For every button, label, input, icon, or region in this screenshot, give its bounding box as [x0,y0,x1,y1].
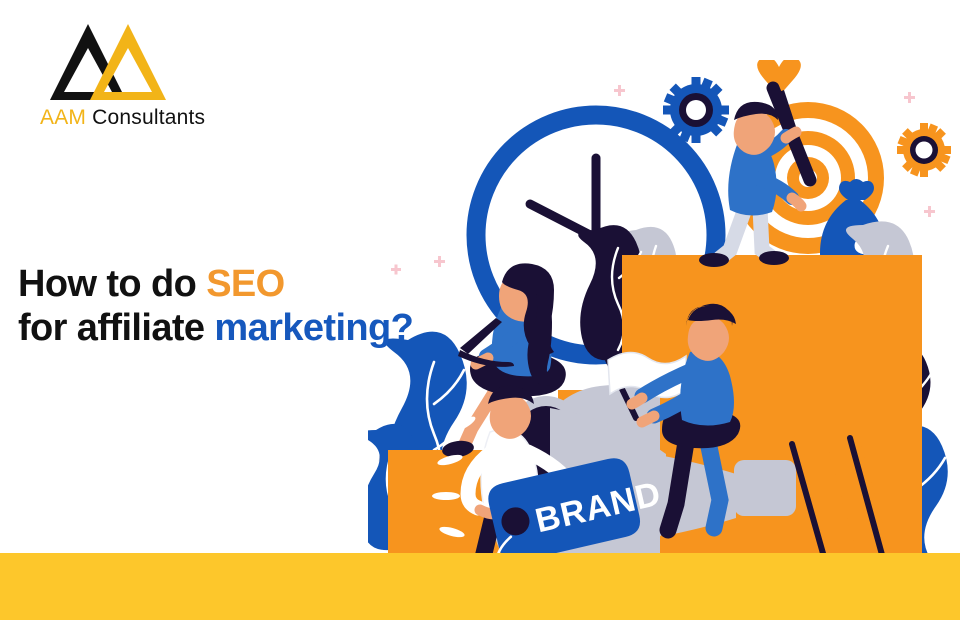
headline-line-2-plain: for affiliate [18,307,214,349]
headline-accent-seo: SEO [206,263,284,305]
aam-triangles-logo-icon [48,22,178,102]
brand-wordmark-consultants: Consultants [86,106,205,129]
headline-line-2: for affiliate marketing? [18,306,413,350]
headline-accent-marketing: marketing? [214,307,413,349]
brand-wordmark-aam: AAM [40,106,86,129]
page-title: How to do SEO for affiliate marketing? [18,262,413,351]
blue-gear-icon [663,77,729,143]
footer-accent-band [0,553,960,620]
seo-affiliate-banner: AAM Consultants How to do SEO for affili… [0,0,960,620]
headline-line-1-plain: How to do [18,263,206,305]
man-dart-shoe-left [699,253,729,267]
headline-line-1: How to do SEO [18,262,413,306]
hero-illustration: Flat illustration of orange staircase wi… [368,60,960,580]
brand-logo[interactable]: AAM Consultants [40,22,250,137]
man-dart-shoe-right [759,251,789,265]
orange-gear-icon [897,123,951,177]
brand-wordmark: AAM Consultants [40,106,205,130]
